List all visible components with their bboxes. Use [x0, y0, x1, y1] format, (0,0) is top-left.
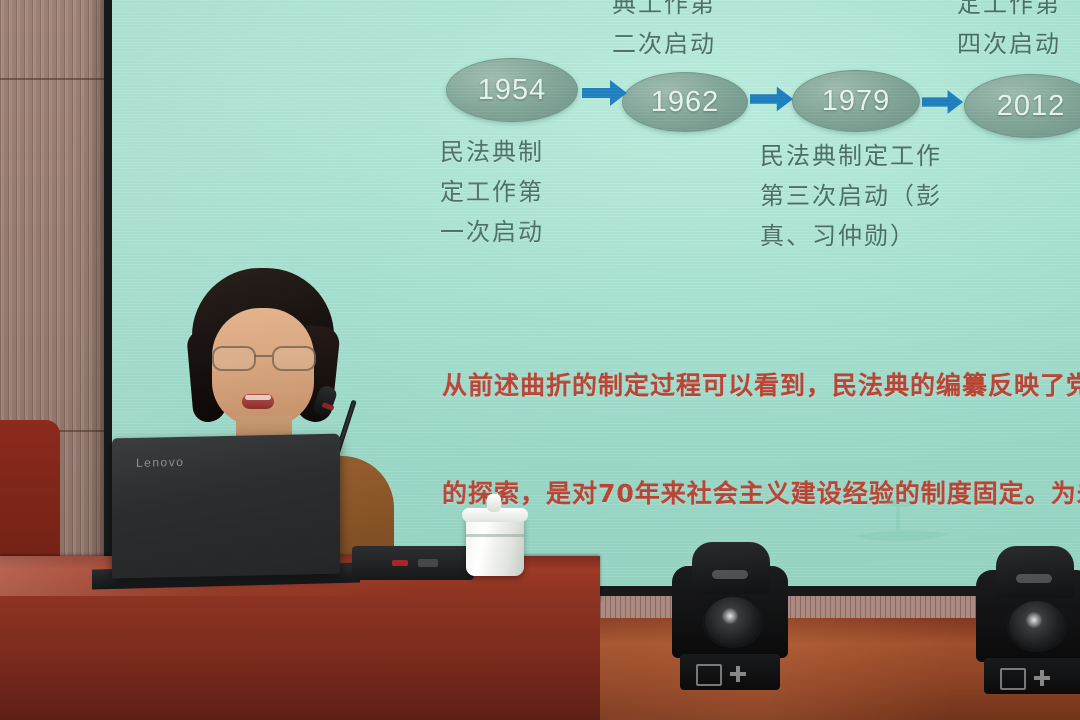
podium-front-panel	[0, 596, 600, 720]
laptop-lid[interactable]: Lenovo	[112, 434, 340, 579]
teacup-band	[466, 534, 524, 537]
timeline-arrow-3	[922, 88, 964, 121]
slide-body-line-1: 从前述曲折的制定过程可以看到，民法典的编纂反映了党和国家	[442, 368, 1080, 404]
timeline-caption-below-1954: 民法典制 定工作第 一次启动	[440, 132, 544, 252]
timeline-node-1962: 1962	[622, 72, 748, 132]
slide-body-text: 从前述曲折的制定过程可以看到，民法典的编纂反映了党和国家 的探索，是对70年来社…	[442, 296, 1080, 586]
stage-light-badge-right	[1016, 574, 1052, 583]
speaker-teeth	[245, 395, 271, 400]
speaker-glasses	[210, 346, 316, 368]
teacup-lid-knob	[487, 494, 501, 512]
ink-wash-boatman-watermark	[842, 486, 962, 556]
microphone-status-led	[392, 560, 408, 566]
timeline-node-1979: 1979	[792, 70, 920, 132]
timeline-caption-below-1979: 民法典制定工作 第三次启动（彭 真、习仲勋）	[760, 136, 942, 256]
stage-light-dpad-right	[1034, 670, 1050, 686]
microphone-mute-button[interactable]	[418, 559, 438, 567]
stage-light-dpad-left	[730, 666, 746, 682]
stage-light-badge-left	[712, 570, 748, 579]
stage-light-display-left	[696, 664, 722, 686]
screenshot-root: 典工作第 二次启动 定工作第 四次启动 1954 1962 1979 2012	[0, 0, 1080, 720]
stage-light-display-right	[1000, 668, 1026, 690]
timeline-arrow-2	[750, 84, 794, 119]
timeline-caption-above-2012: 定工作第 四次启动	[957, 0, 1061, 64]
laptop-brand-logo: Lenovo	[136, 455, 184, 470]
microphone-base-unit[interactable]	[352, 546, 474, 580]
timeline-node-1954: 1954	[446, 58, 578, 122]
timeline-caption-above-1962: 典工作第 二次启动	[612, 0, 716, 64]
timeline-node-2012: 2012	[964, 74, 1080, 138]
slide-body-line-2: 的探索，是对70年来社会主义建设经验的制度固定。为未来社会	[442, 476, 1080, 512]
timeline-arrow-1	[582, 78, 628, 113]
